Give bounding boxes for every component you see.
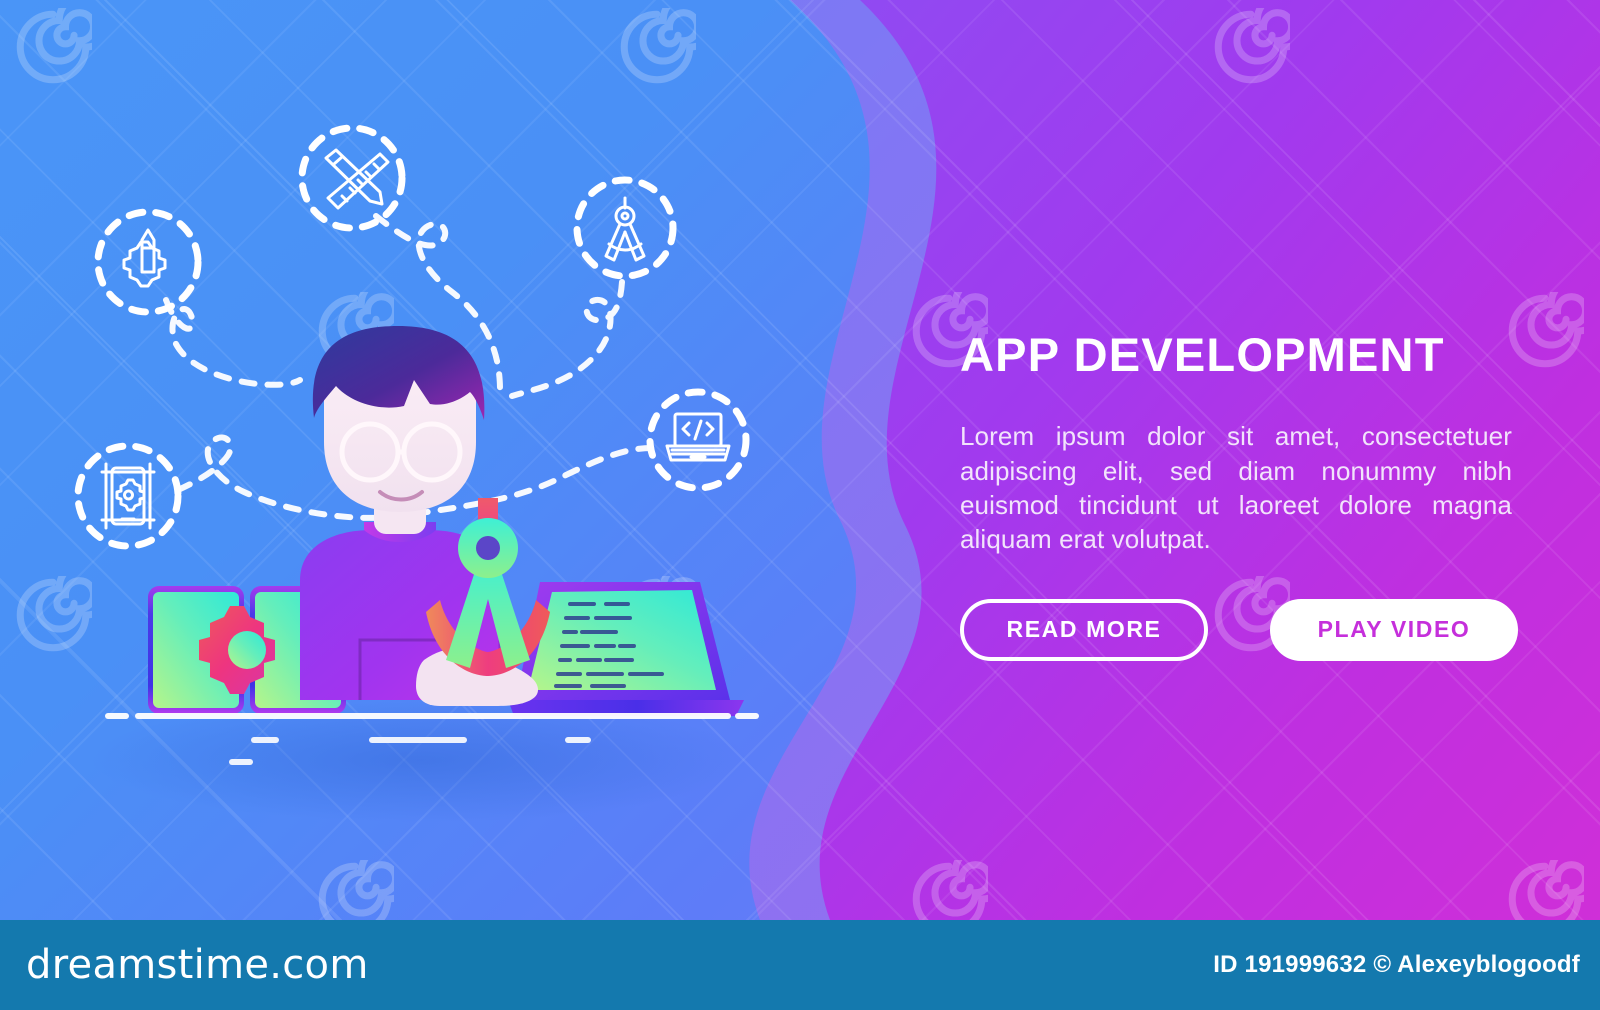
body-paragraph: Lorem ipsum dolor sit amet, consectetuer… (960, 419, 1512, 556)
watermark-spiral-icon (910, 860, 988, 920)
banner-stage: APP DEVELOPMENT Lorem ipsum dolor sit am… (0, 0, 1600, 1010)
dreamstime-logo[interactable]: dreamstime.com (26, 942, 369, 988)
compass-icon (606, 198, 644, 260)
bubble-pencil-gear (98, 212, 198, 312)
bubble-phone-gear (78, 446, 178, 546)
bubble-compass (577, 180, 673, 276)
stock-footer-bar: dreamstime.com ID 191999632 © Alexeyblog… (0, 920, 1600, 1010)
phone-gear-icon (102, 464, 154, 528)
hero-copy: APP DEVELOPMENT Lorem ipsum dolor sit am… (960, 330, 1520, 661)
read-more-button[interactable]: READ MORE (960, 599, 1208, 661)
watermark-spiral-icon (1506, 860, 1584, 920)
pencil-gear-icon (124, 230, 165, 286)
cta-button-row: READ MORE PLAY VIDEO (960, 599, 1520, 661)
hero-banner: APP DEVELOPMENT Lorem ipsum dolor sit am… (0, 0, 1600, 920)
play-video-button[interactable]: PLAY VIDEO (1270, 599, 1518, 661)
laptop-code-icon (667, 414, 729, 460)
ruler-pencil-icon (326, 150, 388, 208)
bubble-laptop-code (650, 392, 746, 488)
watermark-spiral-icon (1212, 8, 1290, 86)
bubble-ruler-pencil (302, 128, 402, 228)
image-credit: ID 191999632 © Alexeyblogoodf (1213, 951, 1580, 979)
page-title: APP DEVELOPMENT (960, 330, 1520, 379)
app-development-illustration (0, 0, 820, 920)
laptop (508, 582, 744, 716)
